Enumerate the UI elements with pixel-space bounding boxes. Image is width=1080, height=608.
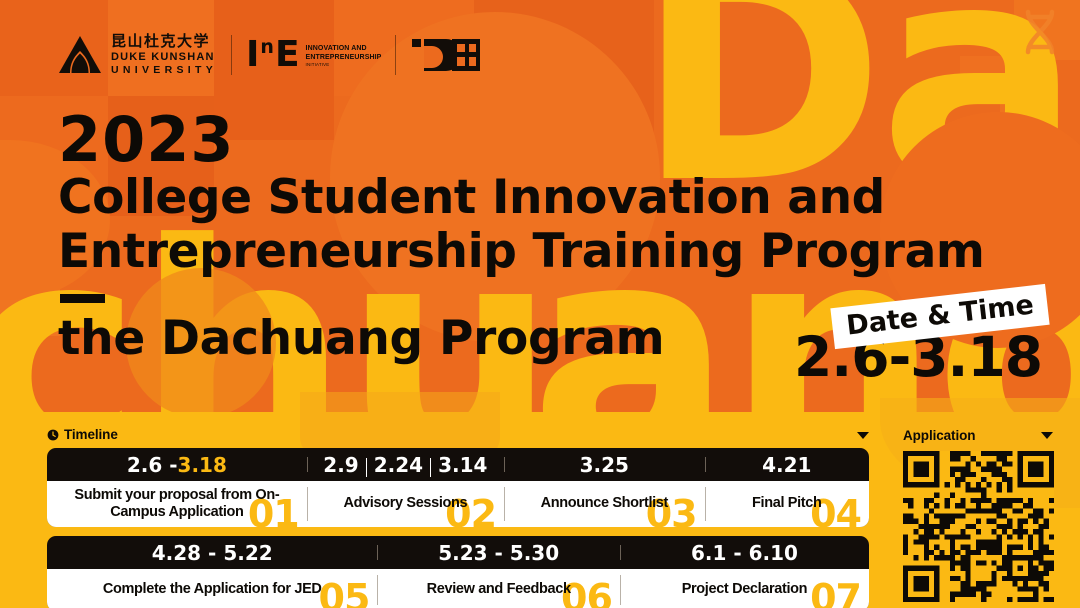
timeline-date-07: 6.1 - 6.10 — [620, 536, 869, 569]
ine-subtitle: INNOVATION and ENTREPRENEURSHIP Initiati… — [306, 45, 382, 70]
bg-tile — [1014, 0, 1080, 60]
timeline-label-02: Advisory Sessions — [343, 495, 467, 512]
timeline-item-04[interactable]: 4.21 04 Final Pitch — [705, 448, 869, 527]
poster-canvas: Da chu ang 昆山杜克大学 D — [0, 0, 1080, 608]
timeline-date-04: 4.21 — [705, 448, 869, 481]
dku-wordmark: 昆山杜克大学 DUKE KUNSHAN UNIVERSITY — [111, 34, 217, 76]
date-text: 5.23 - 5.30 — [438, 541, 559, 565]
logo-divider-2 — [395, 35, 396, 75]
date-text: 2.24 — [374, 453, 423, 477]
logo-ine[interactable]: InE INNOVATION and ENTREPRENEURSHIP Init… — [246, 39, 381, 71]
chevron-down-icon-timeline[interactable] — [857, 432, 869, 439]
title-line-2: Entrepreneurship Training Program — [58, 225, 984, 279]
timeline-label-04: Final Pitch — [752, 495, 821, 512]
ine-mark-i: I — [246, 34, 260, 75]
ine-mark-e: E — [275, 34, 301, 75]
timeline-label-05: Complete the Application for JED — [103, 581, 322, 598]
ine-mark: InE — [246, 39, 301, 71]
dku-english-name-line2: UNIVERSITY — [111, 65, 217, 76]
title-line-1: College Student Innovation and — [58, 171, 984, 225]
ine-mark-n: n — [260, 36, 275, 58]
timeline-item-07[interactable]: 6.1 - 6.10 07 Project Declaration — [620, 536, 869, 608]
timeline-label-wrap-05: 05 Complete the Application for JED — [47, 569, 377, 608]
timeline-number-05: 05 — [319, 579, 370, 608]
dku-chinese-name: 昆山杜克大学 — [111, 34, 217, 49]
application-section-header: Application — [903, 427, 1063, 446]
title-year: 2023 — [58, 108, 984, 171]
timeline-number-07: 07 — [810, 579, 861, 608]
timeline-item-03[interactable]: 3.25 03 Announce Shortlist — [504, 448, 705, 527]
title-dash-rule — [60, 294, 105, 303]
logo-duke-kunshan-university[interactable]: 昆山杜克大学 DUKE KUNSHAN UNIVERSITY — [58, 34, 217, 76]
chevron-down-icon-application[interactable] — [1041, 432, 1053, 439]
timeline-item-05[interactable]: 4.28 - 5.22 05 Complete the Application … — [47, 536, 377, 608]
application-section-label: Application — [903, 428, 975, 443]
timeline-label-wrap-03: 03 Announce Shortlist — [504, 481, 705, 527]
timeline-item-01[interactable]: 2.6 - 3.18 01 Submit your proposal from … — [47, 448, 307, 527]
timeline-section: Timeline 2.6 - 3.18 01 Submit your propo… — [47, 427, 869, 608]
timeline-row: 4.28 - 5.22 05 Complete the Application … — [47, 536, 869, 608]
timeline-item-02[interactable]: 2.92.243.14 02 Advisory Sessions — [307, 448, 504, 527]
timeline-section-label: Timeline — [64, 427, 118, 442]
timeline-date-02: 2.92.243.14 — [307, 448, 504, 481]
timeline-date-06: 5.23 - 5.30 — [377, 536, 619, 569]
logo-divider-1 — [231, 35, 232, 75]
timeline-label-07: Project Declaration — [682, 581, 808, 598]
clock-icon — [47, 429, 59, 441]
bg-tile — [960, 56, 1014, 96]
timeline-label-wrap-02: 02 Advisory Sessions — [307, 481, 504, 527]
application-section: Application — [903, 427, 1063, 602]
date-text: 3.25 — [580, 453, 629, 477]
logo-bar: 昆山杜克大学 DUKE KUNSHAN UNIVERSITY InE INNOV… — [58, 30, 482, 80]
date-text: 4.21 — [762, 453, 811, 477]
timeline-label-wrap-06: 06 Review and Feedback — [377, 569, 619, 608]
dna-helix-icon — [1018, 6, 1062, 58]
qr-code[interactable] — [903, 451, 1054, 602]
date-text-highlight: 3.18 — [178, 453, 227, 477]
timeline-label-03: Announce Shortlist — [541, 495, 668, 512]
dii-logo-icon[interactable] — [410, 35, 482, 75]
ine-subtitle-line1: INNOVATION and — [306, 45, 382, 54]
dku-english-name-line1: DUKE KUNSHAN — [111, 52, 217, 63]
date-text: 2.6 - — [127, 453, 178, 477]
timeline-label-wrap-07: 07 Project Declaration — [620, 569, 869, 608]
date-separator — [430, 458, 431, 477]
timeline-label-wrap-01: 01 Submit your proposal from On-Campus A… — [47, 481, 307, 527]
timeline-label-wrap-04: 04 Final Pitch — [705, 481, 869, 527]
timeline-date-05: 4.28 - 5.22 — [47, 536, 377, 569]
date-time-block: Date & Time 2.6-3.18 — [794, 296, 1042, 385]
date-text: 4.28 - 5.22 — [152, 541, 273, 565]
timeline-label-06: Review and Feedback — [427, 581, 571, 598]
bg-tile — [0, 216, 60, 336]
date-text: 3.14 — [438, 453, 487, 477]
timeline-date-03: 3.25 — [504, 448, 705, 481]
date-text: 6.1 - 6.10 — [691, 541, 798, 565]
timeline-row: 2.6 - 3.18 01 Submit your proposal from … — [47, 448, 869, 527]
timeline-section-header: Timeline — [47, 427, 869, 442]
dku-triangle-icon — [58, 35, 102, 75]
bg-tile — [1000, 88, 1040, 122]
ine-subtitle-line2: ENTREPRENEURSHIP — [306, 54, 382, 63]
timeline-item-06[interactable]: 5.23 - 5.30 06 Review and Feedback — [377, 536, 619, 608]
ine-subtitle-line3: Initiative — [306, 62, 382, 67]
date-separator — [366, 458, 367, 477]
timeline-label-01: Submit your proposal from On-Campus Appl… — [53, 487, 301, 520]
timeline-date-01: 2.6 - 3.18 — [47, 448, 307, 481]
date-text: 2.9 — [323, 453, 358, 477]
